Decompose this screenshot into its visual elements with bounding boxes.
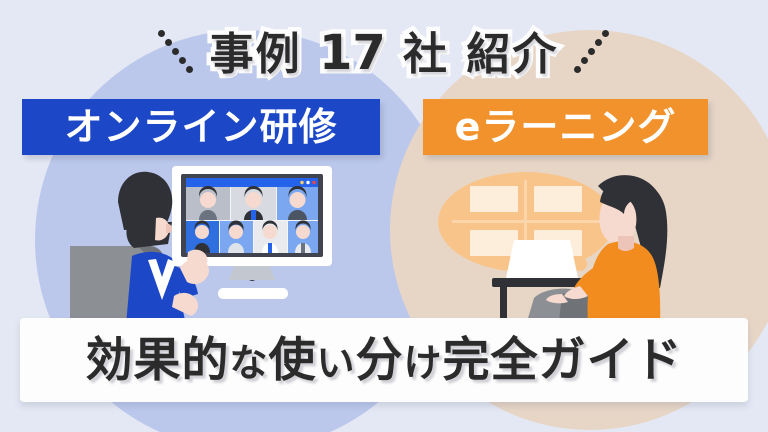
page-title: 事例 17 社 紹介 bbox=[210, 29, 559, 77]
chip-elearning-label: eラーニング bbox=[455, 108, 677, 146]
bottom-banner: 効果的な使い分け完全ガイド bbox=[20, 318, 748, 402]
material-card bbox=[470, 230, 518, 256]
material-card bbox=[470, 186, 518, 212]
chip-online-training-label: オンライン研修 bbox=[64, 108, 337, 146]
banner-title: 効果的な使い分け完全ガイド bbox=[85, 337, 682, 384]
chip-online-training[interactable]: オンライン研修 bbox=[22, 99, 380, 155]
material-card bbox=[534, 186, 582, 212]
headline-row: 事例 17 社 紹介 bbox=[0, 22, 768, 84]
dotted-diagonal-left-icon bbox=[156, 26, 202, 80]
illustration-elearning bbox=[430, 160, 695, 325]
dotted-diagonal-right-icon bbox=[566, 26, 612, 80]
slide-canvas: 事例 17 社 紹介 オンライン研修 eラーニング bbox=[0, 0, 768, 432]
illustration-online-training bbox=[70, 160, 340, 325]
chip-elearning[interactable]: eラーニング bbox=[423, 99, 708, 155]
